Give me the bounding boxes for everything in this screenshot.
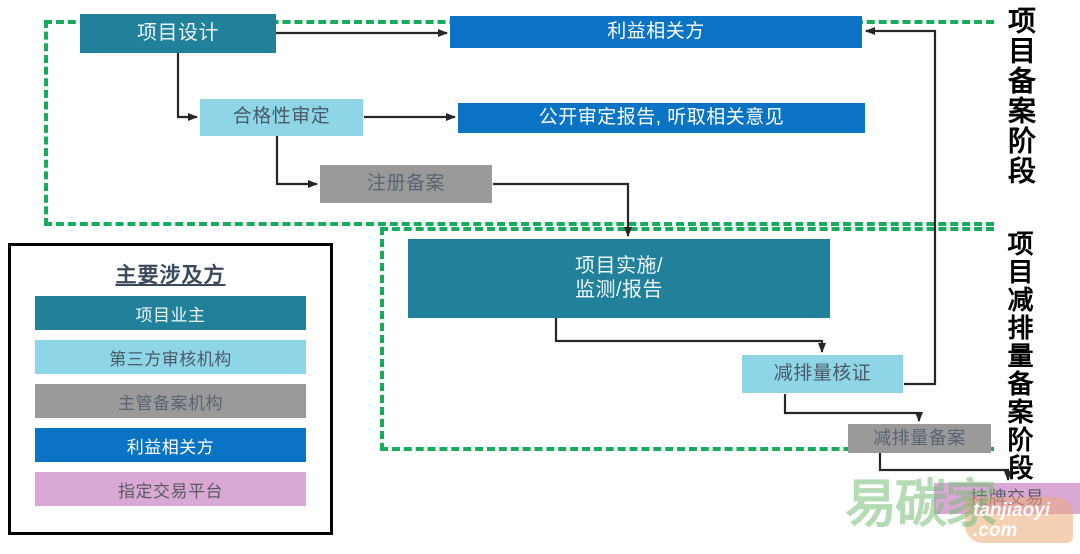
legend-panel: 主要涉及方 项目业主 第三方审核机构 主管备案机构 利益相关方 指定交易平台 bbox=[8, 243, 333, 535]
arrow-reduction-filing-to-listing bbox=[880, 453, 1008, 480]
node-project-design[interactable]: 项目设计 bbox=[80, 14, 276, 53]
arrow-verification-to-reduction-filing bbox=[785, 394, 919, 421]
legend-title: 主要涉及方 bbox=[11, 259, 330, 289]
legend-item-competent-filing-authority: 主管备案机构 bbox=[35, 384, 306, 418]
node-stakeholders[interactable]: 利益相关方 bbox=[450, 16, 862, 48]
node-eligibility-review[interactable]: 合格性审定 bbox=[200, 99, 363, 136]
arrow-implementation-to-verification bbox=[556, 318, 822, 352]
node-registration-filing[interactable]: 注册备案 bbox=[320, 165, 492, 203]
node-project-implementation[interactable]: 项目实施/ 监测/报告 bbox=[408, 239, 830, 318]
node-public-validation-report[interactable]: 公开审定报告, 听取相关意见 bbox=[458, 103, 865, 133]
arrow-verification-to-stakeholders bbox=[866, 31, 935, 384]
arrow-registration-to-implementation bbox=[493, 184, 628, 236]
phase-label-reduction-filing: 项目减排量备案阶段 bbox=[1006, 230, 1032, 482]
node-reduction-verification[interactable]: 减排量核证 bbox=[742, 355, 903, 393]
phase-label-project-filing: 项目备案阶段 bbox=[1006, 6, 1034, 186]
legend-item-third-party-auditor: 第三方审核机构 bbox=[35, 340, 306, 374]
arrow-design-to-eligibility bbox=[178, 53, 197, 117]
watermark-domain-line2: .com bbox=[973, 521, 1050, 541]
node-listing-trade[interactable]: 挂牌交易 bbox=[934, 483, 1080, 514]
arrow-eligibility-to-registration bbox=[277, 136, 317, 184]
flowchart-canvas: 项目备案阶段 项目减排量备案阶段 bbox=[0, 0, 1080, 554]
legend-item-stakeholders: 利益相关方 bbox=[35, 428, 306, 462]
legend-item-designated-trading-platform: 指定交易平台 bbox=[35, 472, 306, 506]
legend-item-project-owner: 项目业主 bbox=[35, 296, 306, 330]
node-reduction-filing[interactable]: 减排量备案 bbox=[848, 424, 991, 453]
